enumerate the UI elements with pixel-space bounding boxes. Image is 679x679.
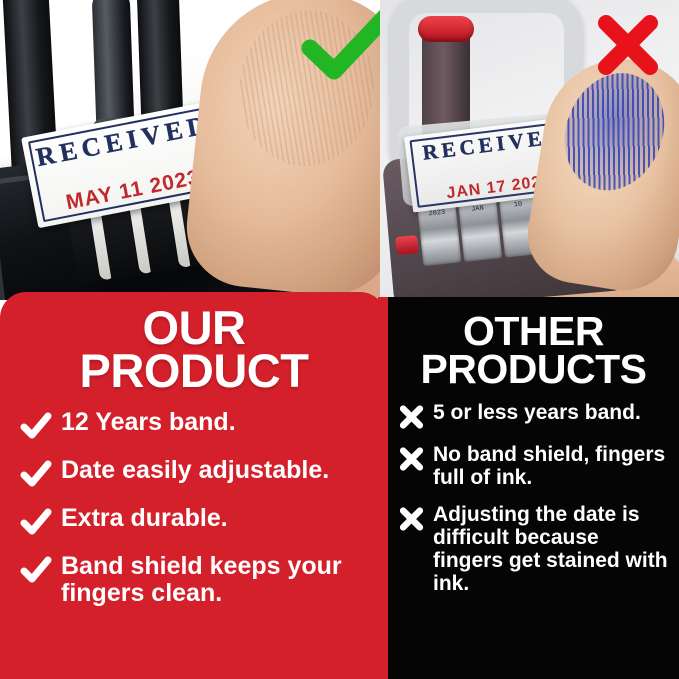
other-products-photo: 2023 JAN 10 27 RECEIVED JAN 17 2025 <box>380 0 679 300</box>
other-products-panel: OTHER PRODUCTS 5 or less years band. No … <box>386 297 679 679</box>
list-item-label: Date easily adjustable. <box>61 457 329 484</box>
list-item: Adjusting the date is difficult because … <box>398 504 669 596</box>
list-item-label: Band shield keeps your fingers clean. <box>61 553 368 606</box>
our-product-photo: RECEIVED MAY 11 2023 <box>0 0 380 300</box>
date-band: JAN <box>458 198 502 262</box>
our-product-list: 12 Years band. Date easily adjustable. E… <box>20 409 368 606</box>
blue-ink-fingerprint <box>548 59 679 205</box>
title-line-2: PRODUCT <box>20 349 368 392</box>
list-item: 5 or less years band. <box>398 402 669 430</box>
list-item-label: Extra durable. <box>61 505 228 532</box>
check-icon <box>20 556 52 584</box>
cross-icon <box>398 506 425 532</box>
list-item: 12 Years band. <box>20 409 368 440</box>
date-band: 2023 <box>417 203 461 267</box>
other-products-title: OTHER PRODUCTS <box>398 313 669 388</box>
list-item: Extra durable. <box>20 505 368 536</box>
our-product-title: OUR PRODUCT <box>20 306 368 392</box>
list-item: Date easily adjustable. <box>20 457 368 488</box>
other-products-list: 5 or less years band. No band shield, fi… <box>398 402 669 595</box>
cross-icon <box>398 404 425 430</box>
check-icon <box>20 508 52 536</box>
list-item: No band shield, fingers full of ink. <box>398 444 669 490</box>
green-check-icon <box>300 8 380 82</box>
list-item-label: Adjusting the date is difficult because … <box>433 504 669 596</box>
photo-row: RECEIVED MAY 11 2023 2023 JAN 10 27 <box>0 0 679 300</box>
cross-icon <box>398 446 425 472</box>
list-item-label: No band shield, fingers full of ink. <box>433 444 669 490</box>
check-icon <box>20 412 52 440</box>
band-adjuster-knob <box>395 235 419 255</box>
list-item-label: 12 Years band. <box>61 409 236 436</box>
our-product-panel: OUR PRODUCT 12 Years band. Date easily a… <box>0 292 386 679</box>
list-item-label: 5 or less years band. <box>433 402 641 425</box>
title-line-2: PRODUCTS <box>398 351 669 389</box>
check-icon <box>20 460 52 488</box>
comparison-infographic: RECEIVED MAY 11 2023 2023 JAN 10 27 <box>0 0 679 679</box>
red-cross-icon <box>593 10 663 80</box>
list-item: Band shield keeps your fingers clean. <box>20 553 368 606</box>
stamper-red-knob <box>418 16 474 42</box>
title-line-1: OUR <box>20 306 368 349</box>
